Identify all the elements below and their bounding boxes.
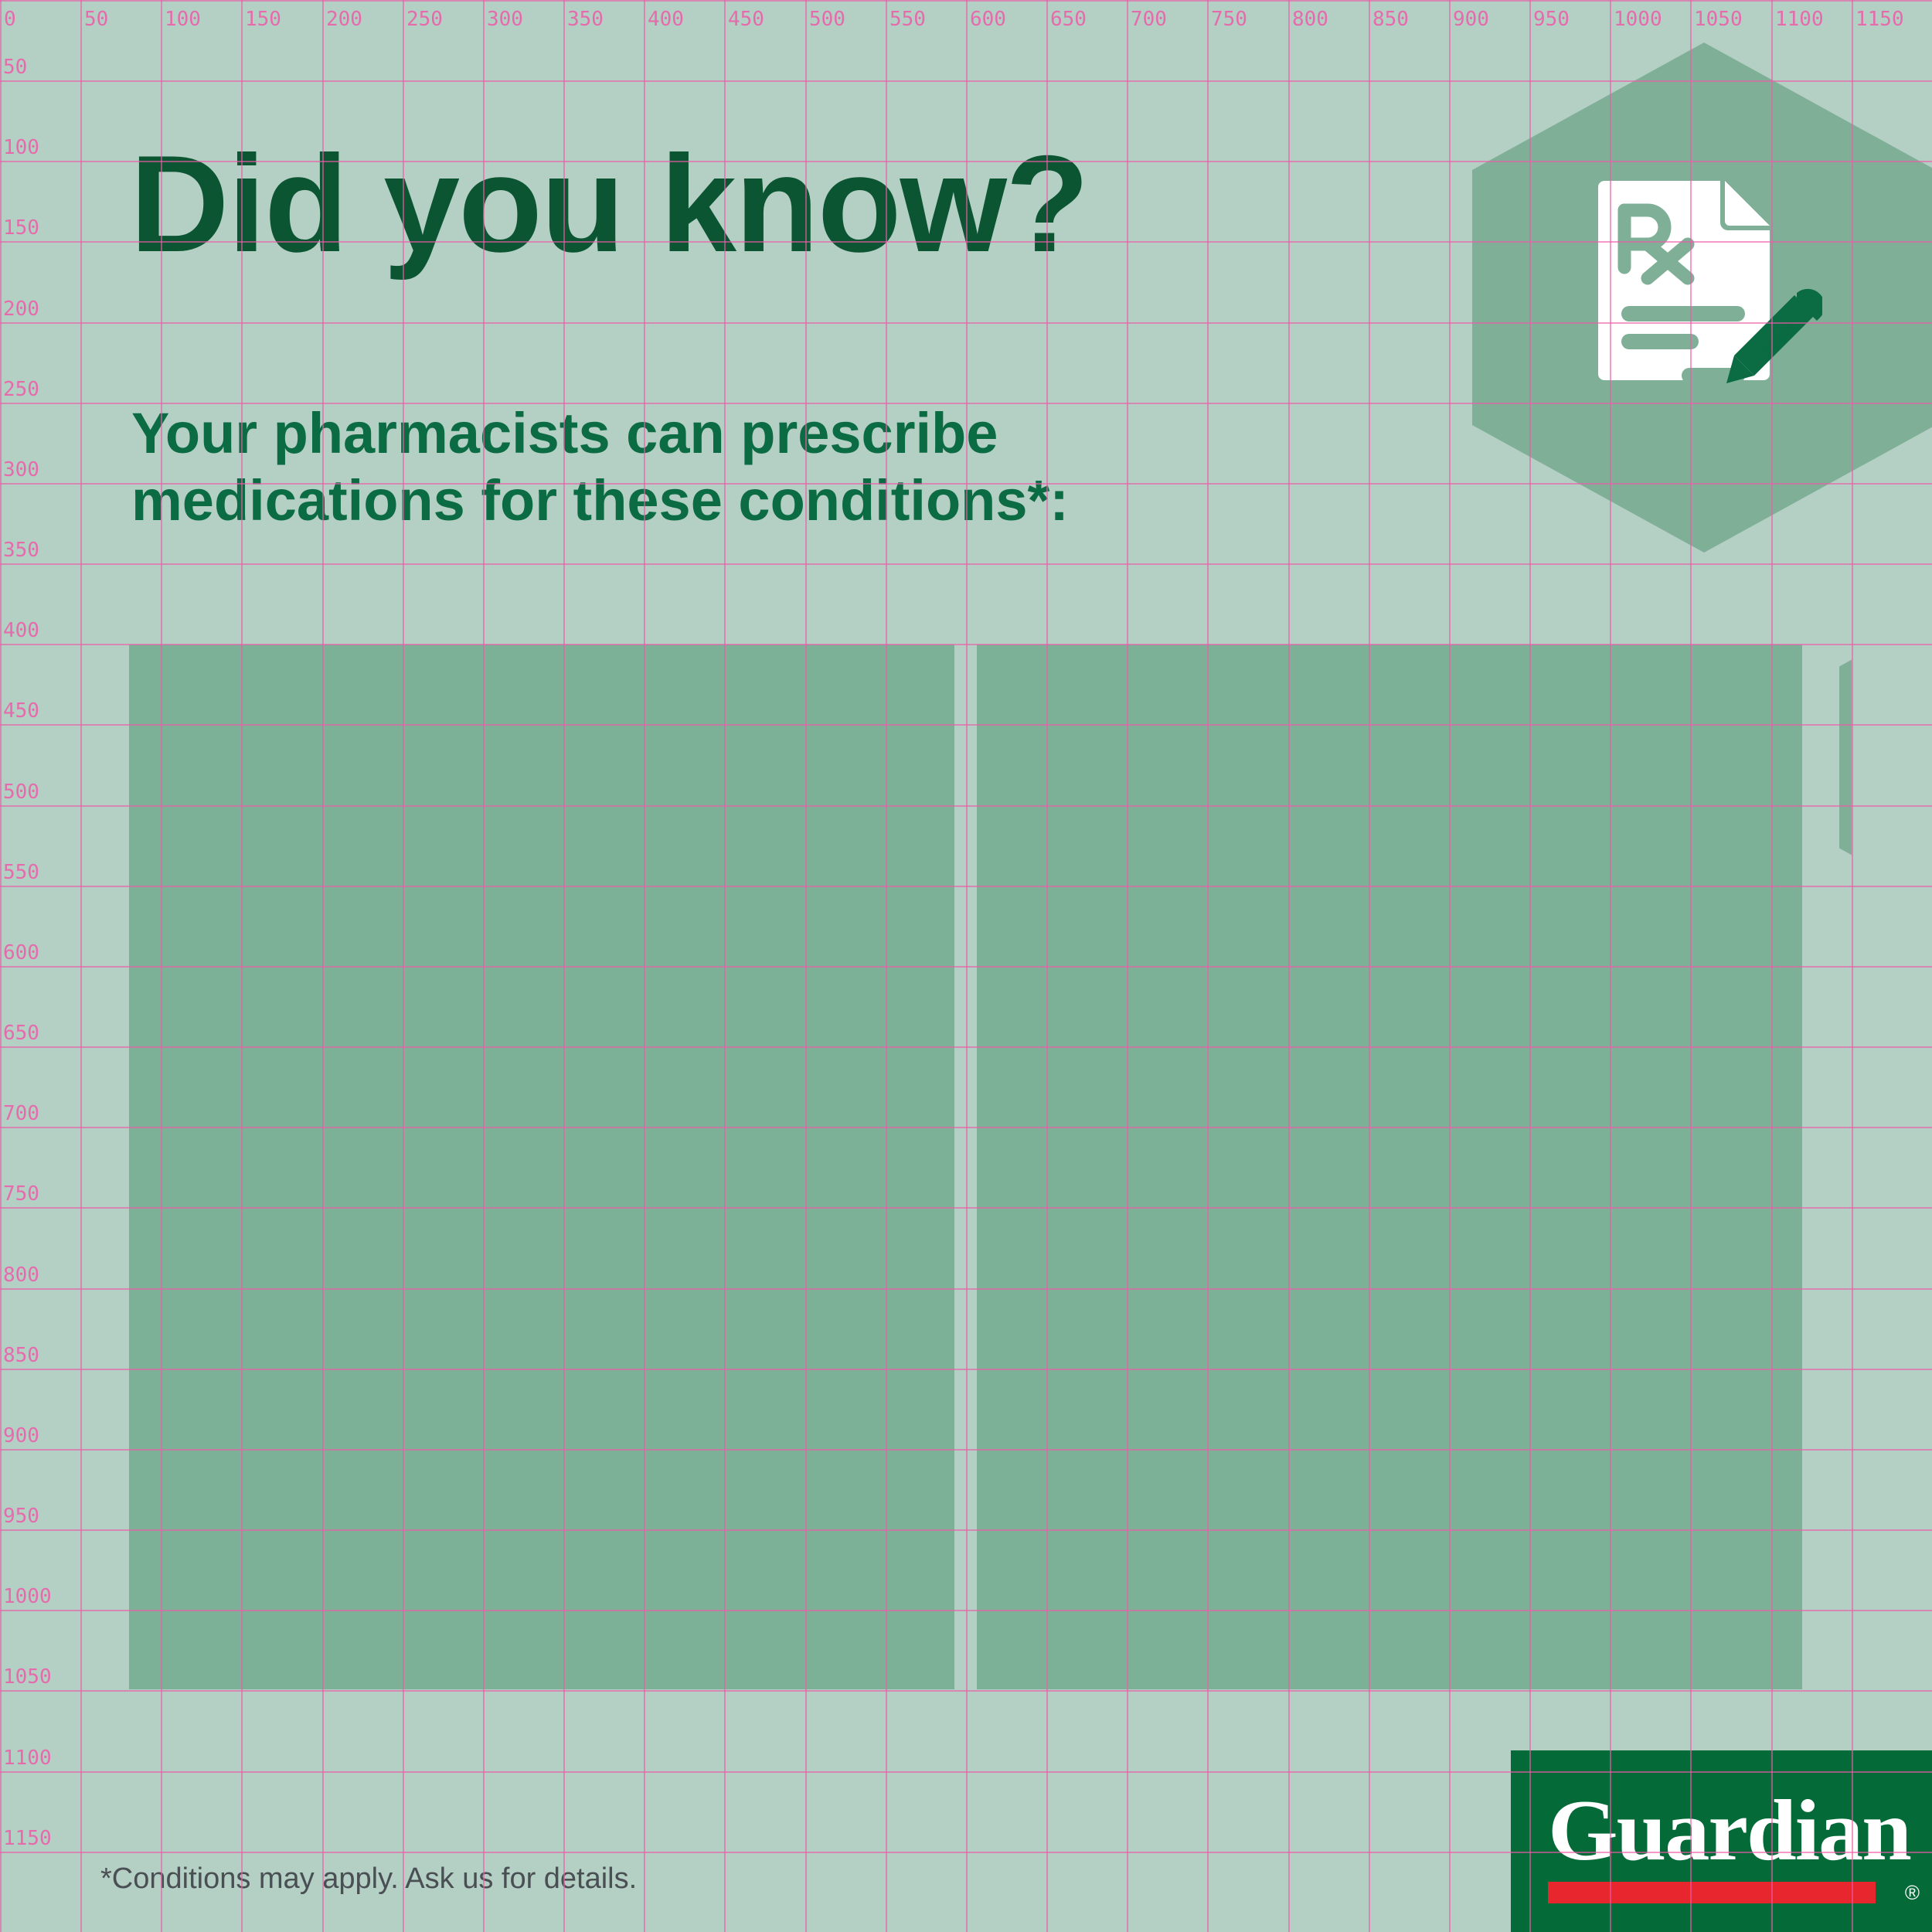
grid-label-y: 50 [3, 57, 27, 77]
grid-label-y: 200 [3, 299, 39, 319]
grid-label-x: 450 [728, 9, 764, 29]
grid-line-horizontal [0, 0, 1932, 2]
grid-line-horizontal [0, 1690, 1932, 1692]
grid-label-x: 500 [809, 9, 845, 29]
grid-label-y: 850 [3, 1345, 39, 1366]
grid-label-x: 100 [165, 9, 201, 29]
grid-label-x: 50 [84, 9, 108, 29]
grid-label-y: 350 [3, 540, 39, 560]
grid-label-x: 900 [1453, 9, 1489, 29]
grid-label-x: 150 [245, 9, 281, 29]
hexagon-outline-icon [1839, 576, 1932, 939]
grid-label-y: 700 [3, 1104, 39, 1124]
grid-label-y: 650 [3, 1023, 39, 1043]
registered-trademark-icon: ® [1905, 1880, 1920, 1905]
grid-label-x: 300 [487, 9, 523, 29]
grid-label-y: 950 [3, 1506, 39, 1526]
grid-label-x: 250 [406, 9, 443, 29]
grid-label-y: 250 [3, 379, 39, 400]
page-title: Did you know? [130, 135, 1088, 273]
grid-label-y: 1150 [3, 1828, 52, 1849]
grid-label-x: 550 [889, 9, 926, 29]
grid-label-x: 1100 [1775, 9, 1824, 29]
page-subtitle-line-2: medications for these conditions*: [131, 468, 1069, 535]
grid-label-y: 150 [3, 218, 39, 238]
guardian-wordmark: Guardian [1548, 1787, 1910, 1874]
footnote-disclaimer: *Conditions may apply. Ask us for detail… [100, 1862, 637, 1896]
prescription-document-icon [1590, 176, 1822, 408]
grid-line-vertical [0, 0, 2, 1932]
grid-label-x: 800 [1292, 9, 1328, 29]
poster-canvas: Did you know? Your pharmacists can presc… [0, 0, 1932, 1932]
grid-label-y: 600 [3, 943, 39, 963]
grid-line-horizontal [0, 563, 1932, 565]
grid-label-y: 400 [3, 621, 39, 641]
grid-line-vertical [80, 0, 82, 1932]
grid-label-x: 1050 [1694, 9, 1743, 29]
grid-label-x: 700 [1131, 9, 1167, 29]
guardian-logo-red-bar [1548, 1882, 1876, 1903]
grid-label-x: 1150 [1855, 9, 1904, 29]
grid-label-y: 1000 [3, 1587, 52, 1607]
grid-label-x: 1000 [1614, 9, 1662, 29]
grid-label-x: 850 [1372, 9, 1409, 29]
grid-label-x: 950 [1533, 9, 1570, 29]
grid-label-x: 350 [567, 9, 604, 29]
grid-label-y: 100 [3, 138, 39, 158]
grid-label-x: 400 [648, 9, 684, 29]
grid-label-y: 450 [3, 701, 39, 721]
grid-label-y: 1050 [3, 1667, 52, 1687]
grid-label-y: 750 [3, 1184, 39, 1204]
content-panel-right [977, 645, 1802, 1689]
grid-label-y: 1100 [3, 1748, 52, 1768]
page-subtitle-line-1: Your pharmacists can prescribe [131, 400, 1069, 468]
guardian-logo: Guardian ® [1511, 1750, 1932, 1932]
grid-label-y: 300 [3, 460, 39, 480]
page-subtitle: Your pharmacists can prescribe medicatio… [131, 400, 1069, 534]
grid-label-y: 550 [3, 862, 39, 883]
grid-label-x: 750 [1211, 9, 1247, 29]
grid-label-x: 650 [1050, 9, 1087, 29]
grid-label-y: 900 [3, 1426, 39, 1446]
content-panels [129, 645, 1802, 1689]
grid-label-y: 500 [3, 782, 39, 802]
grid-label-y: 800 [3, 1265, 39, 1285]
grid-label-x: 600 [970, 9, 1006, 29]
content-panel-left [129, 645, 954, 1689]
grid-label-x: 0 [4, 9, 16, 29]
grid-label-x: 200 [326, 9, 362, 29]
